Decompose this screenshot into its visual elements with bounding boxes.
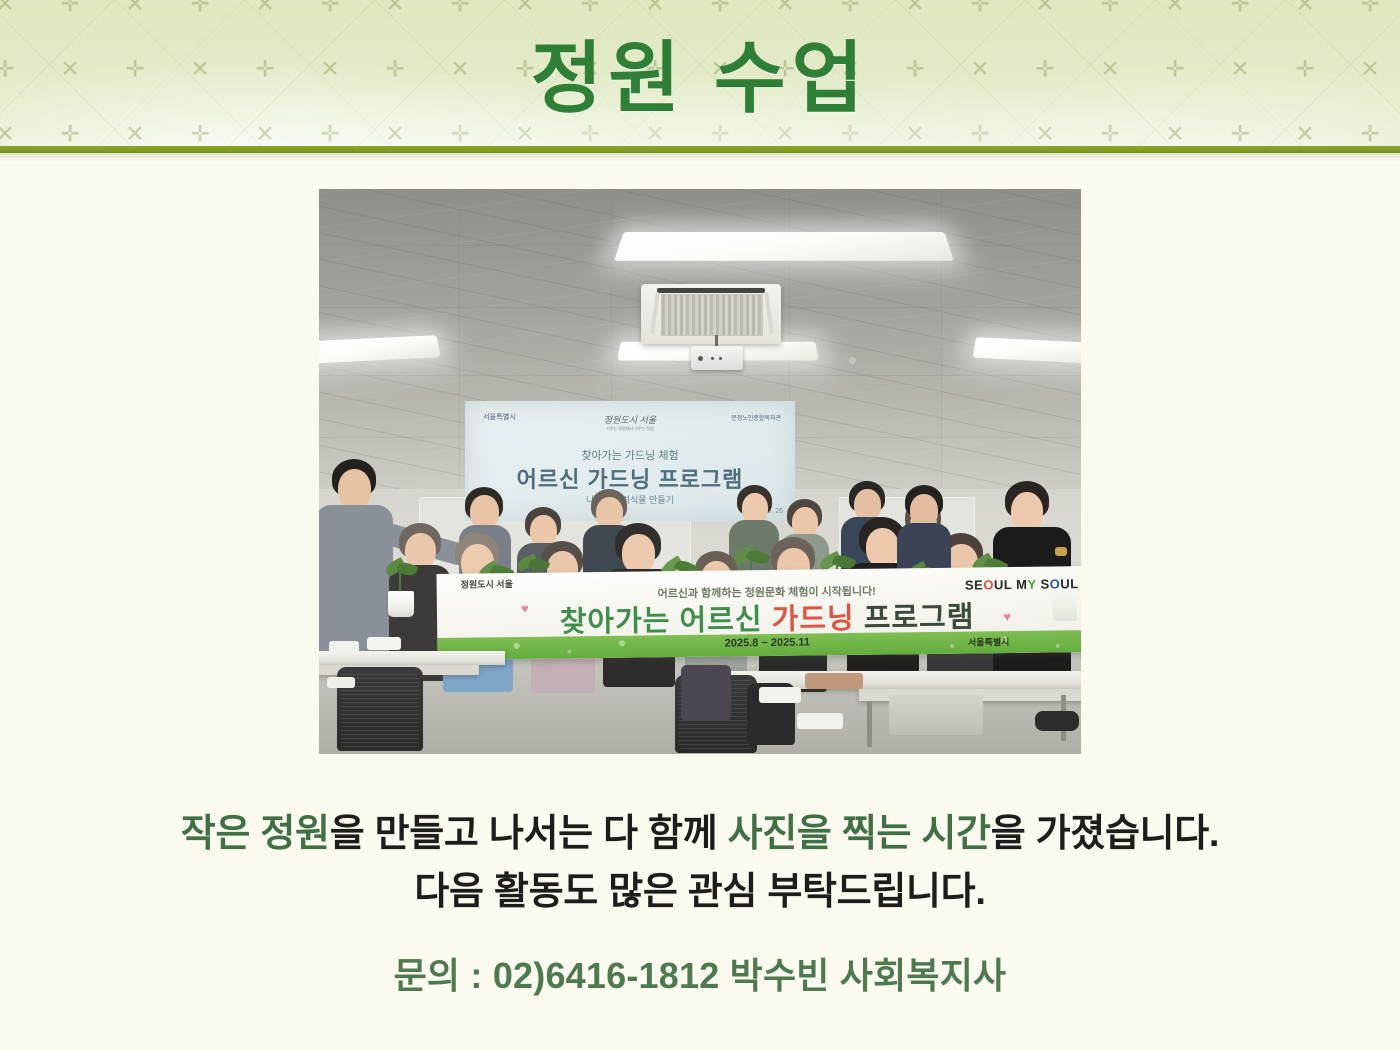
header-divider-rule: [0, 146, 1400, 153]
table-item-paper: [327, 677, 355, 688]
logo-y: Y: [1027, 577, 1036, 592]
screen-title: 어르신 가드닝 프로그램: [517, 462, 744, 494]
event-banner: 정원도시 서울 어르신과 함께하는 정원문화 체험이 시작됩니다! ♥ 찾아가는…: [436, 566, 1081, 660]
face: [622, 534, 655, 573]
logo-ul2: UL: [1060, 576, 1079, 591]
banner-title-part3: 가드닝: [771, 603, 863, 636]
table-item-gray-tray: [889, 695, 983, 735]
banner-city-label: 서울특별시: [968, 635, 1010, 649]
slide-root: ✕ ✛ ✕ ✛ ✕ ✛ ✕ ✛ ✕ ✛ ✕ ✛ ✕ ✛ ✕ ✛ ✕ ✛ ✕ ✛ …: [0, 0, 1400, 1050]
face: [1011, 492, 1043, 531]
ceiling-projector: [691, 346, 743, 370]
heart-icon: ♥: [521, 601, 529, 616]
projector-indicator: [711, 357, 714, 360]
face: [338, 469, 371, 509]
banner-title-part4: 프로그램: [864, 601, 975, 634]
caption-line1-dark1: 을 만들고 나서는 다 함께: [330, 813, 728, 855]
banner-title-part1: 찾아가는: [560, 605, 680, 638]
ceiling-tile-line: [459, 189, 460, 499]
logo-o: O: [983, 577, 994, 592]
ac-arm: [764, 292, 774, 334]
table-item-bag: [681, 665, 731, 721]
screen-logo-center: 정원도시 서울 가꾸는 정원에서 가꾸는 정원: [604, 413, 656, 432]
face: [866, 528, 899, 567]
ceiling-air-conditioner: [641, 284, 781, 344]
page-header: ✕ ✛ ✕ ✛ ✕ ✛ ✕ ✛ ✕ ✛ ✕ ✛ ✕ ✛ ✕ ✛ ✕ ✛ ✕ ✛ …: [0, 0, 1400, 146]
projector-lens: [698, 356, 703, 361]
flower-pot: [388, 591, 414, 617]
caption-text: 작은 정원을 만들고 나서는 다 함께 사진을 찍는 시간을 가졌습니다. 다음…: [0, 806, 1400, 922]
page-title: 정원 수업: [0, 16, 1400, 128]
ceiling-light: [614, 232, 954, 261]
name-badge: [1055, 547, 1067, 556]
screen-logo-center-text: 정원도시 서울: [604, 415, 656, 425]
logo-se: SE: [965, 577, 984, 592]
ac-arm: [650, 292, 660, 334]
logo-ul-m: UL M: [994, 577, 1028, 592]
projector-indicator: [719, 357, 722, 360]
ceiling-tile-line: [319, 375, 1081, 376]
screen-logo-left: 서울특별시: [483, 412, 516, 422]
header-divider-shadow: [0, 153, 1400, 162]
ceiling-sprinkler: [849, 357, 856, 364]
caption-line-2: 다음 활동도 많은 관심 부탁드립니다.: [0, 864, 1400, 922]
logo-s: S: [1036, 577, 1049, 592]
table-item-paper: [759, 687, 801, 703]
face: [470, 495, 499, 529]
table-item-shoe: [1035, 711, 1079, 731]
caption-line1-green1: 작은 정원: [181, 813, 330, 855]
table-item-paper: [329, 641, 359, 653]
heart-icon: ♥: [1003, 609, 1011, 624]
screen-subtitle: 찾아가는 가드닝 체험: [581, 447, 678, 463]
caption-line1-green2: 사진을 찍는 시간: [728, 813, 991, 855]
screen-logo-right: 문정노인종합복지관: [731, 413, 781, 422]
table: [319, 651, 505, 665]
banner-top-left-label: 정원도시 서울: [461, 577, 513, 591]
logo-oo: O: [1050, 576, 1061, 591]
table-item-wood-tray: [805, 673, 863, 689]
contact-info: 문의 : 02)6416-1812 박수빈 사회복지사: [0, 947, 1400, 999]
ac-vent-slot: [657, 288, 765, 293]
table-leg: [867, 701, 872, 747]
banner-period: 2025.8 ~ 2025.11: [725, 636, 810, 649]
table-item-paper: [797, 713, 843, 729]
table-item-paper: [367, 637, 401, 650]
caption-line1-dark2: 을 가졌습니다.: [991, 813, 1219, 855]
group-photo: 서울특별시 정원도시 서울 가꾸는 정원에서 가꾸는 정원 문정노인종합복지관 …: [319, 189, 1081, 754]
stem: [399, 571, 401, 593]
cup: [1053, 593, 1077, 621]
banner-title-part2: 어르신: [679, 604, 771, 637]
caption-line-1: 작은 정원을 만들고 나서는 다 함께 사진을 찍는 시간을 가졌습니다.: [0, 806, 1400, 864]
screen-logo-center-sub: 가꾸는 정원에서 가꾸는 정원: [604, 426, 656, 432]
ac-grille: [661, 294, 763, 336]
seoul-my-soul-logo: SEOUL MY SOUL: [965, 576, 1079, 592]
